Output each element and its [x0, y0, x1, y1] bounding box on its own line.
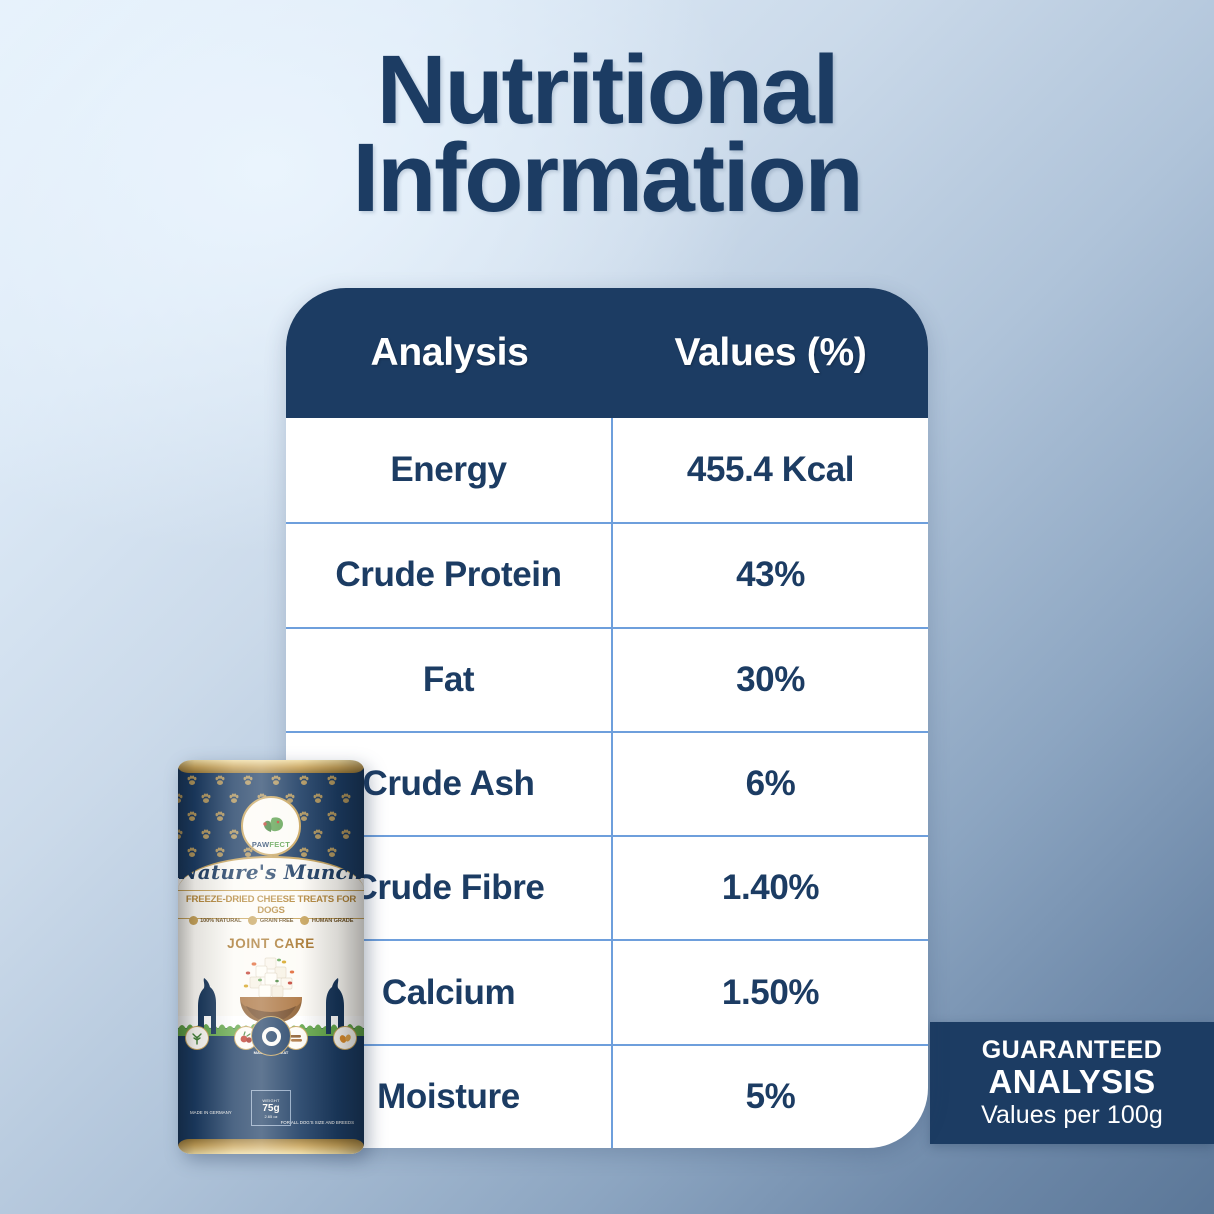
table-row: Crude Protein 43%: [286, 522, 928, 626]
ingredient-fennel-icon: FENNEL: [185, 1026, 209, 1050]
table-row: Crude Ash 6%: [286, 731, 928, 835]
row-value-fat: 30%: [613, 629, 928, 731]
pawfect-logo-text: PAWFECT: [252, 841, 290, 849]
wheat-icon: [189, 916, 198, 925]
can-care-line: JOINT CARE: [178, 936, 364, 951]
page-title: Nutritional Information: [0, 46, 1214, 222]
shield-icon: [300, 916, 309, 925]
table-row: Energy 455.4 Kcal: [286, 418, 928, 522]
column-header-values: Values (%): [613, 288, 928, 418]
guaranteed-analysis-badge: GUARANTEED ANALYSIS Values per 100g: [930, 1022, 1214, 1144]
leaf-dog-icon: [256, 815, 286, 841]
page-title-line-1: Nutritional: [0, 46, 1214, 134]
row-value-moisture: 5%: [613, 1046, 928, 1148]
can-made-in: MADE IN GERMANY: [190, 1110, 232, 1116]
column-header-analysis: Analysis: [286, 288, 613, 418]
can-body: PAWFECT Nature's Munch FREEZE-DRIED CHEE…: [178, 760, 364, 1154]
can-subtitle: FREEZE-DRIED CHEESE TREATS FOR DOGS: [178, 890, 364, 919]
row-value-crude-protein: 43%: [613, 524, 928, 626]
grain-icon: [248, 916, 257, 925]
can-badge-grain-free: GRAIN FREE: [248, 916, 293, 925]
row-value-crude-ash: 6%: [613, 733, 928, 835]
low-fat-milk-seal: [251, 1016, 291, 1056]
table-header-row: Analysis Values (%): [286, 288, 928, 418]
can-rim-top: [178, 760, 364, 773]
weight-oz: 2.65 oz: [264, 1114, 277, 1119]
row-value-calcium: 1.50%: [613, 941, 928, 1043]
can-feature-badges: 100% NATURAL GRAIN FREE HUMAN GRADE: [178, 916, 364, 925]
page-title-line-2: Information: [0, 134, 1214, 222]
product-can-image: PAWFECT Nature's Munch FREEZE-DRIED CHEE…: [178, 760, 364, 1154]
badge-line-values-per-100g: Values per 100g: [981, 1100, 1163, 1131]
weight-value: 75g: [262, 1103, 279, 1114]
row-label-energy: Energy: [286, 418, 613, 522]
row-value-crude-fibre: 1.40%: [613, 837, 928, 939]
table-body: Energy 455.4 Kcal Crude Protein 43% Fat …: [286, 418, 928, 1148]
ingredient-biotin-icon: BIOTIN: [333, 1026, 357, 1050]
nutrition-table-card: Analysis Values (%) Energy 455.4 Kcal Cr…: [286, 288, 928, 1148]
can-badge-natural: 100% NATURAL: [189, 916, 242, 925]
table-row: Moisture 5%: [286, 1044, 928, 1148]
badge-line-guaranteed: GUARANTEED: [982, 1036, 1162, 1064]
pawfect-logo: PAWFECT: [241, 796, 301, 856]
can-brand-name: Nature's Munch: [178, 860, 364, 884]
row-label-crude-protein: Crude Protein: [286, 524, 613, 626]
row-value-energy: 455.4 Kcal: [613, 418, 928, 522]
badge-line-analysis: ANALYSIS: [988, 1064, 1155, 1100]
row-label-fat: Fat: [286, 629, 613, 731]
table-row: Fat 30%: [286, 627, 928, 731]
table-row: Crude Fibre 1.40%: [286, 835, 928, 939]
seal-inner-ring: [262, 1027, 281, 1046]
can-rim-bottom: [178, 1139, 364, 1154]
can-for-all-dogs: FOR ALL DOG'S SIZE AND BREEDS: [281, 1120, 354, 1126]
table-row: Calcium 1.50%: [286, 939, 928, 1043]
can-badge-human-grade: HUMAN GRADE: [300, 916, 353, 925]
cheese-treat-bowl-icon: [232, 956, 310, 1024]
